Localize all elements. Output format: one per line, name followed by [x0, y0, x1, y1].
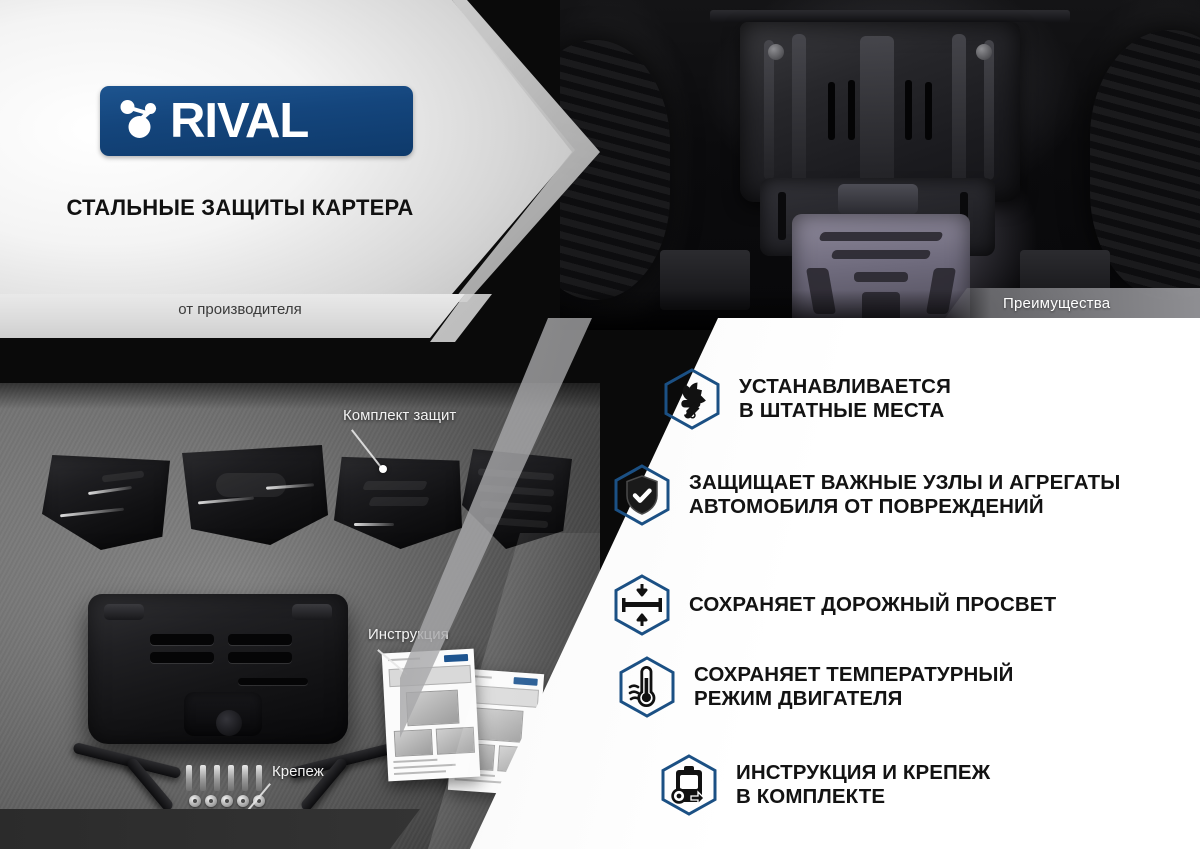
rival-product-banner: Преимущества [0, 0, 1200, 849]
advantages-tab-label: Преимущества [945, 295, 1110, 312]
callout-label-hardware: Крепеж [272, 763, 324, 780]
wrench-icon [663, 368, 721, 430]
crossmember-beam [710, 10, 1070, 22]
feature-text-3: СОХРАНЯЕТ ДОРОЖНЫЙ ПРОСВЕТ [689, 593, 1056, 617]
feature-text-2: ЗАЩИЩАЕТ ВАЖНЫЕ УЗЛЫ И АГРЕГАТЫ АВТОМОБИ… [689, 471, 1120, 519]
hero-subtitle: от производителя [40, 301, 440, 318]
stage-top-shadow [0, 383, 600, 409]
hero-panel [0, 0, 575, 340]
rival-logo: RIVAL [100, 86, 413, 156]
engine-skid-plate [740, 22, 1020, 202]
clearance-icon [613, 574, 671, 636]
feature-item-2: ЗАЩИЩАЕТ ВАЖНЫЕ УЗЛЫ И АГРЕГАТЫ АВТОМОБИ… [613, 464, 1120, 526]
rival-wordmark: RIVAL [170, 97, 308, 146]
feature-text-1: УСТАНАВЛИВАЕТСЯ В ШТАТНЫЕ МЕСТА [739, 375, 951, 423]
feature-item-1: УСТАНАВЛИВАЕТСЯ В ШТАТНЫЕ МЕСТА [663, 368, 951, 430]
main-engine-guard [88, 594, 348, 744]
thermometer-icon [618, 656, 676, 718]
callout-label-kit: Комплект защит [343, 407, 456, 424]
shield-check-icon [613, 464, 671, 526]
callout-dot-kit [379, 465, 387, 473]
advantages-tab: Преимущества [945, 288, 1200, 318]
feature-item-5: ИНСТРУКЦИЯ И КРЕПЕЖ В КОМПЛЕКТЕ [660, 754, 990, 816]
features-list: УСТАНАВЛИВАЕТСЯ В ШТАТНЫЕ МЕСТА ЗАЩИЩАЕТ… [608, 356, 1200, 836]
underbody-photo [560, 0, 1200, 330]
feature-item-4: СОХРАНЯЕТ ТЕМПЕРАТУРНЫЙ РЕЖИМ ДВИГАТЕЛЯ [618, 656, 1013, 718]
hero-title: СТАЛЬНЫЕ ЗАЩИТЫ КАРТЕРА [40, 195, 440, 221]
feature-item-3: СОХРАНЯЕТ ДОРОЖНЫЙ ПРОСВЕТ [613, 574, 1056, 636]
stage-bottom-band [0, 809, 420, 849]
feature-text-4: СОХРАНЯЕТ ТЕМПЕРАТУРНЫЙ РЕЖИМ ДВИГАТЕЛЯ [694, 663, 1013, 711]
feature-text-5: ИНСТРУКЦИЯ И КРЕПЕЖ В КОМПЛЕКТЕ [736, 761, 990, 809]
molecule-icon [114, 92, 168, 151]
manual-hardware-icon [660, 754, 718, 816]
